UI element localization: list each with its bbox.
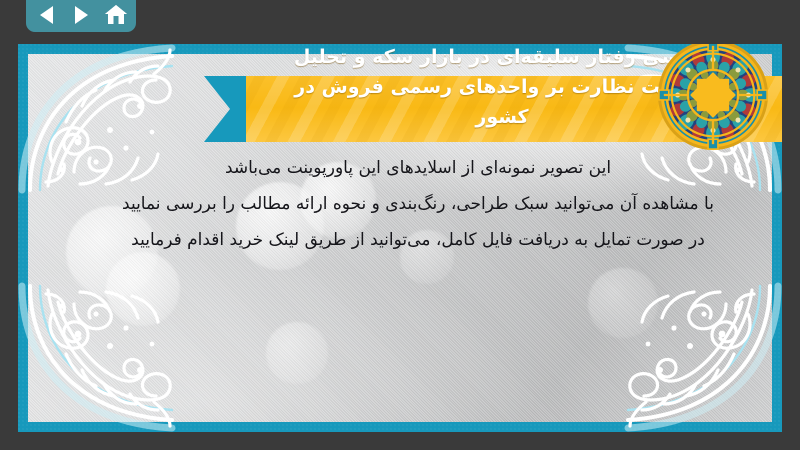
viewer-bottom-strip	[0, 432, 800, 450]
slide-body-text: این تصویر نمونه‌ای از اسلایدهای این پاور…	[68, 150, 768, 258]
bokeh-circle	[266, 322, 328, 384]
presentation-viewer: این تصویر نمونه‌ای از اسلایدهای این پاور…	[0, 0, 800, 450]
body-line: این تصویر نمونه‌ای از اسلایدهای این پاور…	[68, 150, 768, 186]
previous-slide-button[interactable]	[33, 3, 59, 27]
triangle-left-icon	[37, 5, 56, 25]
bokeh-circle	[106, 252, 180, 326]
body-line: در صورت تمایل به دریافت فایل کامل، می‌تو…	[68, 222, 768, 258]
bokeh-circle	[588, 268, 658, 338]
home-icon	[104, 4, 128, 26]
next-slide-button[interactable]	[68, 3, 94, 27]
slide-title-band	[232, 76, 782, 142]
body-line: با مشاهده آن می‌توانید سبک طراحی، رنگ‌بن…	[68, 186, 768, 222]
slide-frame: این تصویر نمونه‌ای از اسلایدهای این پاور…	[18, 44, 782, 432]
triangle-right-icon	[72, 5, 91, 25]
home-button[interactable]	[103, 3, 129, 27]
slide-navigation-bar[interactable]	[26, 0, 136, 32]
